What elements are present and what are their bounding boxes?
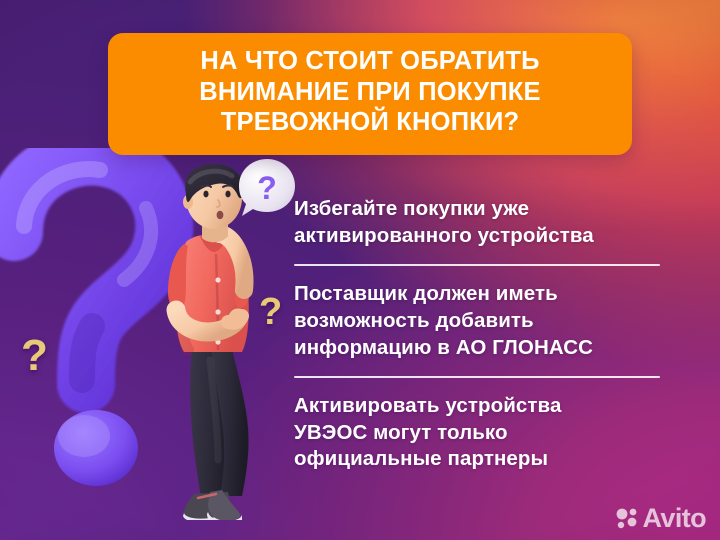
headline-card: На что стоит обратить внимание при покуп… (108, 33, 632, 155)
list-divider (294, 376, 660, 378)
list-item: Активировать устройства УВЭОС могут толь… (294, 393, 666, 473)
list-divider (294, 264, 660, 266)
avito-mark-icon (616, 507, 638, 531)
advice-list: Избегайте покупки уже активированного ус… (294, 196, 666, 473)
poster-canvas: ? (0, 0, 720, 540)
avito-logo: Avito (616, 505, 707, 532)
page-title: На что стоит обратить внимание при покуп… (199, 46, 541, 138)
list-item: Избегайте покупки уже активированного ус… (294, 196, 666, 249)
list-item: Поставщик должен иметь возможность добав… (294, 281, 666, 361)
avito-wordmark: Avito (643, 505, 707, 532)
